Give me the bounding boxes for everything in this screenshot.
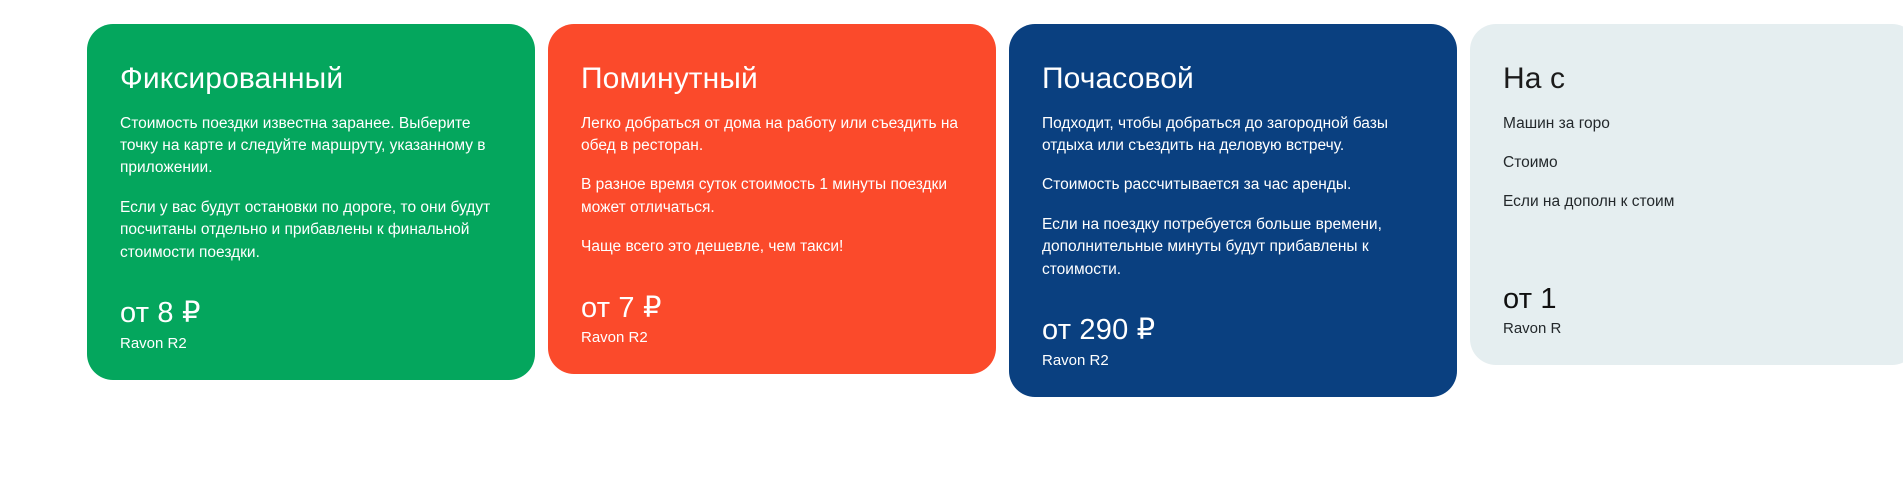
tariff-card-paragraph: Чаще всего это дешевле, чем такси! [581,236,962,258]
spacer [581,259,962,277]
tariff-card-paragraph: Если на дополн к стоим [1503,191,1884,213]
tariff-card-car-model: Ravon R [1503,318,1884,339]
tariff-card-price-block: от 1 Ravon R [1503,268,1884,339]
tariff-card-paragraph: Если на поездку потребуется больше време… [1042,214,1423,281]
spacer [120,264,501,282]
spacer [1042,281,1423,299]
tariff-card-title: На с [1503,62,1884,97]
spacer [1503,214,1884,268]
tariff-card-title: Почасовой [1042,62,1423,97]
tariff-card-paragraph: Стоимость рассчитывается за час аренды. [1042,174,1423,196]
tariff-card-paragraph: Легко добраться от дома на работу или съ… [581,113,962,158]
tariff-card-daily[interactable]: На с Машин за горо Стоимо Если на дополн… [1470,24,1903,365]
tariff-cards-row: Фиксированный Стоимость поездки известна… [87,24,1903,397]
tariff-card-price: от 1 [1503,284,1884,315]
tariff-card-paragraph: Подходит, чтобы добраться до загородной … [1042,113,1423,158]
tariff-card-title: Поминутный [581,62,962,97]
tariff-cards-board: Фиксированный Стоимость поездки известна… [0,0,1903,504]
tariff-card-price: от 7 ₽ [581,293,962,324]
tariff-card-paragraph: Стоимо [1503,152,1884,174]
tariff-card-paragraph: Стоимость поездки известна заранее. Выбе… [120,113,501,180]
tariff-card-price: от 290 ₽ [1042,315,1423,346]
tariff-card-title: Фиксированный [120,62,501,97]
tariff-card-price-block: от 8 ₽ Ravon R2 [120,282,501,353]
tariff-card-paragraph: Если у вас будут остановки по дороге, то… [120,197,501,264]
tariff-card-per-minute[interactable]: Поминутный Легко добраться от дома на ра… [548,24,996,374]
tariff-card-paragraph: Машин за горо [1503,113,1884,135]
tariff-card-price-block: от 290 ₽ Ravon R2 [1042,299,1423,370]
tariff-card-paragraph: В разное время суток стоимость 1 минуты … [581,174,962,219]
tariff-card-car-model: Ravon R2 [120,333,501,354]
tariff-card-fixed[interactable]: Фиксированный Стоимость поездки известна… [87,24,535,380]
tariff-card-hourly[interactable]: Почасовой Подходит, чтобы добраться до з… [1009,24,1457,397]
tariff-card-car-model: Ravon R2 [1042,350,1423,371]
tariff-card-price-block: от 7 ₽ Ravon R2 [581,277,962,348]
tariff-card-car-model: Ravon R2 [581,327,962,348]
tariff-card-price: от 8 ₽ [120,298,501,329]
